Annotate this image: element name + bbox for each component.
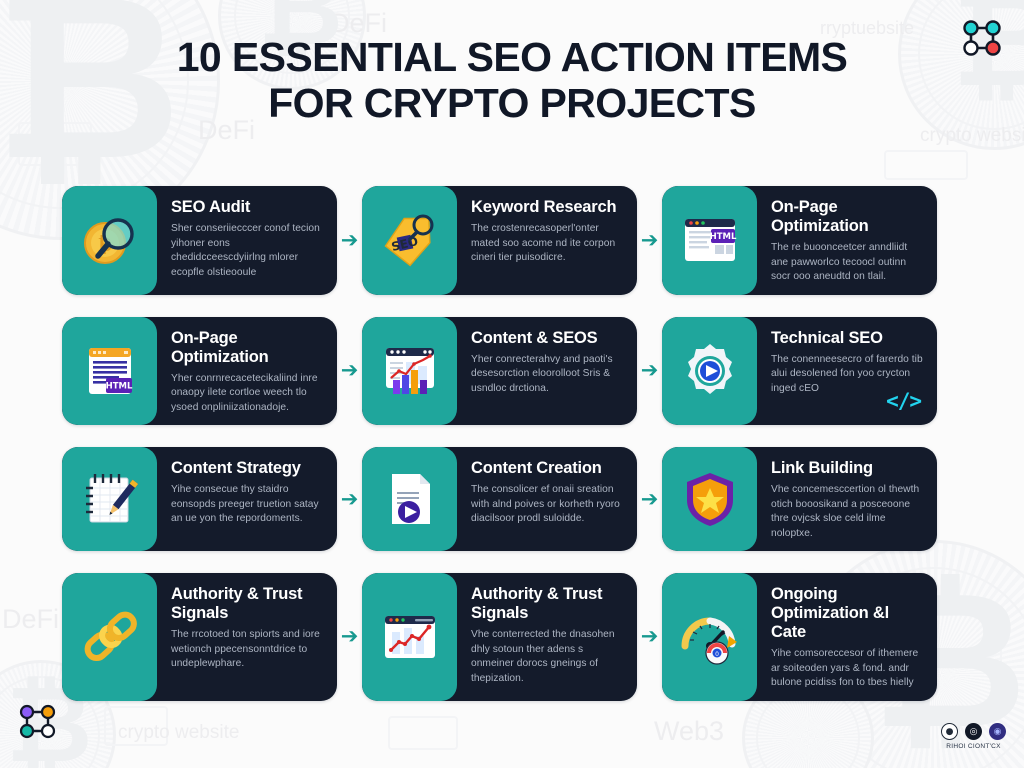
- card-body: Content & SEOS Yher conrecterahvy and pa…: [457, 317, 637, 426]
- card-title: Content Creation: [471, 459, 623, 478]
- card-icon-pane: [62, 447, 157, 551]
- action-card-on-page-optimization[interactable]: HTML On-Page Optimization The re buoonce…: [662, 186, 937, 295]
- card-row: HTML On-Page Optimization Yher conrnreca…: [62, 317, 962, 426]
- card-body: SEO Audit Sher conseriiecccer conof teci…: [157, 186, 337, 295]
- circuit-watermark: [104, 706, 168, 746]
- card-icon-pane: [362, 317, 457, 426]
- speedometer-icon: 0: [679, 606, 741, 668]
- card-body: Authority & Trust Signals The rrcotoed t…: [157, 573, 337, 701]
- card-row: Authority & Trust Signals The rrcotoed t…: [62, 573, 962, 701]
- card-title: Keyword Research: [471, 198, 623, 217]
- card-title: Link Building: [771, 459, 923, 478]
- card-title: Content Strategy: [171, 459, 323, 478]
- card-title: SEO Audit: [171, 198, 323, 217]
- card-body: On-Page Optimization The re buoonceetcer…: [757, 186, 937, 295]
- flow-arrow-icon: ➔: [337, 573, 362, 701]
- magnifier-bitcoin-icon: ₿: [79, 209, 141, 271]
- notepad-pen-icon: [79, 468, 141, 530]
- badge-row: ● ◎ ◉: [941, 723, 1006, 740]
- card-icon-pane: [362, 573, 457, 701]
- card-body: Link Building Vhe concemesccertion ol th…: [757, 447, 937, 551]
- card-description: Vhe concemesccertion ol thewth otich boo…: [771, 483, 923, 541]
- action-items-grid: ₿ SEO Audit Sher conseriiecccer conof te…: [62, 186, 962, 701]
- analytics-chart-icon: [379, 340, 441, 402]
- card-icon-pane: HTML: [62, 317, 157, 426]
- card-icon-pane: 0: [662, 573, 757, 701]
- action-card-seo-audit[interactable]: ₿ SEO Audit Sher conseriiecccer conof te…: [62, 186, 337, 295]
- card-title: Technical SEO: [771, 329, 923, 348]
- document-play-icon: [379, 468, 441, 530]
- title-line-1: 10 ESSENTIAL SEO ACTION ITEMS: [0, 34, 1024, 80]
- card-description: The re buoonceetcer anndliidt ane pawwor…: [771, 241, 923, 285]
- partner-coin-icon-2[interactable]: ◎: [965, 723, 982, 740]
- card-icon-pane: [62, 573, 157, 701]
- card-title: Ongoing Optimization &l Cate: [771, 585, 923, 642]
- card-icon-pane: SEO: [362, 186, 457, 295]
- card-row: Content Strategy Yihe consecue thy staid…: [62, 447, 962, 551]
- card-row: ₿ SEO Audit Sher conseriiecccer conof te…: [62, 186, 962, 295]
- svg-text:HTML: HTML: [105, 381, 132, 391]
- gear-play-icon: [679, 340, 741, 402]
- title-line-2: FOR CRYPTO PROJECTS: [0, 80, 1024, 126]
- card-title: Authority & Trust Signals: [171, 585, 323, 623]
- svg-text:HTML: HTML: [709, 232, 736, 242]
- browser-html-icon: HTML: [679, 209, 741, 271]
- card-description: Yher conrecterahvy and paoti's desesorct…: [471, 353, 623, 397]
- network-node-logo-bottom-left[interactable]: [14, 698, 62, 746]
- network-node-logo-top-right[interactable]: [956, 12, 1008, 64]
- card-body: Authority & Trust Signals Vhe conterrect…: [457, 573, 637, 701]
- partner-coin-badges: ● ◎ ◉ RIHOI CIONT'CX: [941, 723, 1006, 750]
- action-card-keyword-research[interactable]: SEO Keyword Research The crostenrecasope…: [362, 186, 637, 295]
- svg-text:0: 0: [715, 651, 719, 658]
- card-icon-pane: [662, 447, 757, 551]
- card-body: On-Page Optimization Yher conrnrecacetec…: [157, 317, 337, 426]
- action-card-authority-trust-signals[interactable]: Authority & Trust Signals The rrcotoed t…: [62, 573, 337, 701]
- action-card-content-and-seos[interactable]: Content & SEOS Yher conrecterahvy and pa…: [362, 317, 637, 426]
- card-description: The consolicer ef onaii sreation with al…: [471, 483, 623, 527]
- action-card-content-creation[interactable]: Content Creation The consolicer ef onaii…: [362, 447, 637, 551]
- card-title: Authority & Trust Signals: [471, 585, 623, 623]
- partner-coin-icon-1[interactable]: ●: [941, 723, 958, 740]
- chain-link-icon: [79, 606, 141, 668]
- card-title: On-Page Optimization: [171, 329, 323, 367]
- circuit-watermark: [388, 716, 458, 750]
- flow-arrow-icon: ➔: [637, 573, 662, 701]
- card-icon-pane: [662, 317, 757, 426]
- watermark-text: crypto website: [920, 125, 1024, 147]
- watermark-text: Web3: [654, 716, 724, 747]
- flow-arrow-icon: ➔: [337, 447, 362, 551]
- action-card-authority-trust-signals-2[interactable]: Authority & Trust Signals Vhe conterrect…: [362, 573, 637, 701]
- growth-chart-icon: [379, 606, 441, 668]
- flow-arrow-icon: ➔: [637, 317, 662, 426]
- card-title: Content & SEOS: [471, 329, 623, 348]
- card-description: Yihe comsoreccesor of ithemere ar soiteo…: [771, 647, 923, 691]
- card-icon-pane: [362, 447, 457, 551]
- circuit-watermark: [884, 150, 968, 180]
- flow-arrow-icon: ➔: [337, 317, 362, 426]
- page-title: 10 ESSENTIAL SEO ACTION ITEMS FOR CRYPTO…: [0, 34, 1024, 126]
- card-body: Ongoing Optimization &l Cate Yihe comsor…: [757, 573, 937, 701]
- action-card-technical-seo[interactable]: Technical SEO The conenneesecro of farer…: [662, 317, 937, 426]
- document-html-icon: HTML: [79, 340, 141, 402]
- partner-coin-icon-3[interactable]: ◉: [989, 723, 1006, 740]
- action-card-link-building[interactable]: Link Building Vhe concemesccertion ol th…: [662, 447, 937, 551]
- card-title: On-Page Optimization: [771, 198, 923, 236]
- card-description: Yihe consecue thy staidro eonsopds preeg…: [171, 483, 323, 527]
- card-body: Content Creation The consolicer ef onaii…: [457, 447, 637, 551]
- card-description: Sher conseriiecccer conof tecion yihoner…: [171, 222, 323, 280]
- price-tag-seo-icon: SEO: [379, 209, 441, 271]
- watermark-text: crypto website: [118, 722, 239, 744]
- card-description: Yher conrnrecacetecikaliind inre onaopy …: [171, 372, 323, 416]
- card-description: The crostenrecasoperl'onter mated soo ac…: [471, 222, 623, 266]
- flow-arrow-icon: ➔: [337, 186, 362, 295]
- action-card-ongoing-optimization[interactable]: 0 Ongoing Optimization &l Cate Yihe coms…: [662, 573, 937, 701]
- infographic-canvas: ₿ ₿ ₿ ₿ ₿ DeFi DeFi DeFi rryptuebsite cr…: [0, 0, 1024, 768]
- card-description: The rrcotoed ton spiorts and iore wetion…: [171, 628, 323, 672]
- partner-badge-caption: RIHOI CIONT'CX: [941, 743, 1006, 750]
- card-icon-pane: ₿: [62, 186, 157, 295]
- card-description: Vhe conterrected the dnasohen dhly sotou…: [471, 628, 623, 686]
- circuit-watermark: [18, 122, 92, 166]
- card-body: Content Strategy Yihe consecue thy staid…: [157, 447, 337, 551]
- card-body: Keyword Research The crostenrecasoperl'o…: [457, 186, 637, 295]
- action-card-on-page-optimization-2[interactable]: HTML On-Page Optimization Yher conrnreca…: [62, 317, 337, 426]
- card-icon-pane: HTML: [662, 186, 757, 295]
- flow-arrow-icon: ➔: [637, 447, 662, 551]
- shield-star-icon: [679, 468, 741, 530]
- code-brackets-icon: </>: [886, 389, 921, 413]
- flow-arrow-icon: ➔: [637, 186, 662, 295]
- action-card-content-strategy[interactable]: Content Strategy Yihe consecue thy staid…: [62, 447, 337, 551]
- watermark-text: DeFi: [2, 604, 59, 635]
